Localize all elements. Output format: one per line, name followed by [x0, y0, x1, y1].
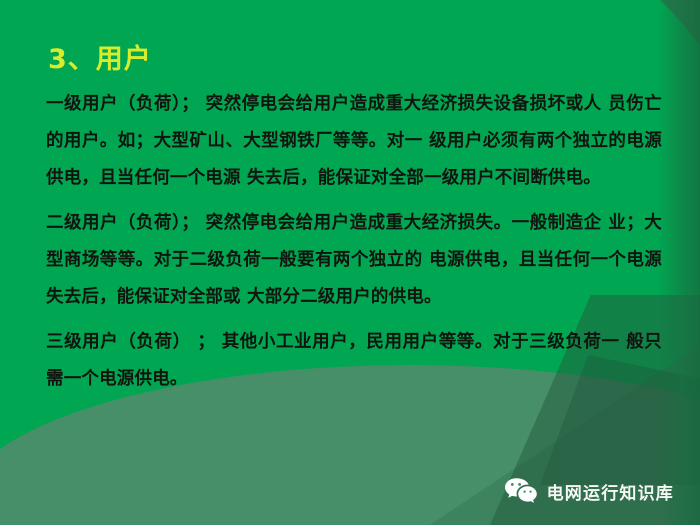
wechat-icon — [504, 477, 538, 505]
paragraph-tier-3: 三级用户（负荷） ； 其他小工业用户，民用用户等等。对于三级负荷一 般只需一个电… — [46, 324, 662, 398]
body-text-block: 一级用户（负荷）； 突然停电会给用户造成重大经济损失设备损坏或人 员伤亡的用户。… — [46, 86, 662, 398]
slide-content: 3、用户 一级用户（负荷）； 突然停电会给用户造成重大经济损失设备损坏或人 员伤… — [0, 0, 700, 525]
watermark-label: 电网运行知识库 — [547, 479, 674, 504]
slide-canvas: 3、用户 一级用户（负荷）； 突然停电会给用户造成重大经济损失设备损坏或人 员伤… — [0, 0, 700, 525]
watermark: 电网运行知识库 — [504, 477, 674, 505]
paragraph-tier-2: 二级用户（负荷）； 突然停电会给用户造成重大经济损失。一般制造企 业；大型商场等… — [46, 205, 662, 316]
paragraph-tier-1: 一级用户（负荷）； 突然停电会给用户造成重大经济损失设备损坏或人 员伤亡的用户。… — [46, 86, 662, 197]
page-title: 3、用户 — [48, 44, 152, 76]
